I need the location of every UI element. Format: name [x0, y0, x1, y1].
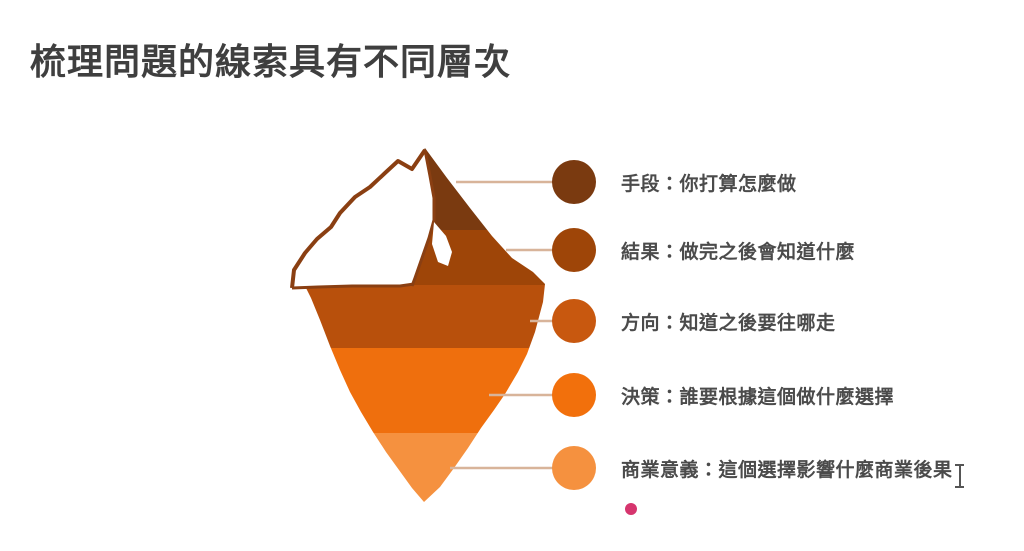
bullet-dot-icon: [552, 299, 596, 343]
slide-canvas: 梳理問題的線索具有不同層次: [0, 0, 1024, 551]
bullet-dot-icon: [552, 228, 596, 272]
bullet-dot-icon: [552, 373, 596, 417]
label-text-business: 商業意義：這個選擇影響什麼商業後果: [621, 455, 953, 482]
label-row-means[interactable]: 手段：你打算怎麼做: [552, 158, 797, 206]
label-row-decision[interactable]: 決策：誰要根據這個做什麼選擇: [552, 371, 894, 419]
bullet-dot-icon: [552, 160, 596, 204]
label-row-business[interactable]: 商業意義：這個選擇影響什麼商業後果: [552, 444, 953, 492]
iceberg-lit-face: [292, 150, 434, 290]
label-row-direction[interactable]: 方向：知道之後要往哪走: [552, 297, 836, 345]
label-text-direction: 方向：知道之後要往哪走: [621, 308, 836, 335]
label-list: 手段：你打算怎麼做 結果：做完之後會知道什麼 方向：知道之後要往哪走 決策：誰要…: [552, 150, 1024, 520]
bullet-dot-icon: [552, 446, 596, 490]
label-text-result: 結果：做完之後會知道什麼: [621, 237, 855, 264]
pink-dot-marker: [625, 503, 637, 515]
label-text-decision: 決策：誰要根據這個做什麼選擇: [621, 382, 894, 409]
label-text-means: 手段：你打算怎麼做: [621, 169, 797, 196]
label-row-result[interactable]: 結果：做完之後會知道什麼: [552, 226, 855, 274]
